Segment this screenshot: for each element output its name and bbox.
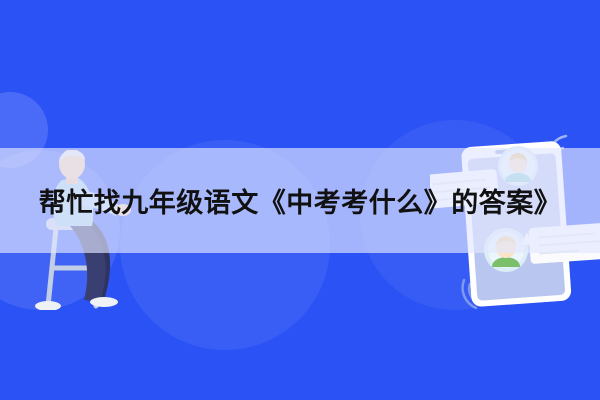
page-title: 帮忙找九年级语文《中考考什么》的答案》	[0, 148, 600, 253]
person-shoe-left	[35, 301, 61, 310]
promo-banner: 帮忙找九年级语文《中考考什么》的答案》	[0, 0, 600, 400]
person-shoe-right	[90, 297, 118, 307]
